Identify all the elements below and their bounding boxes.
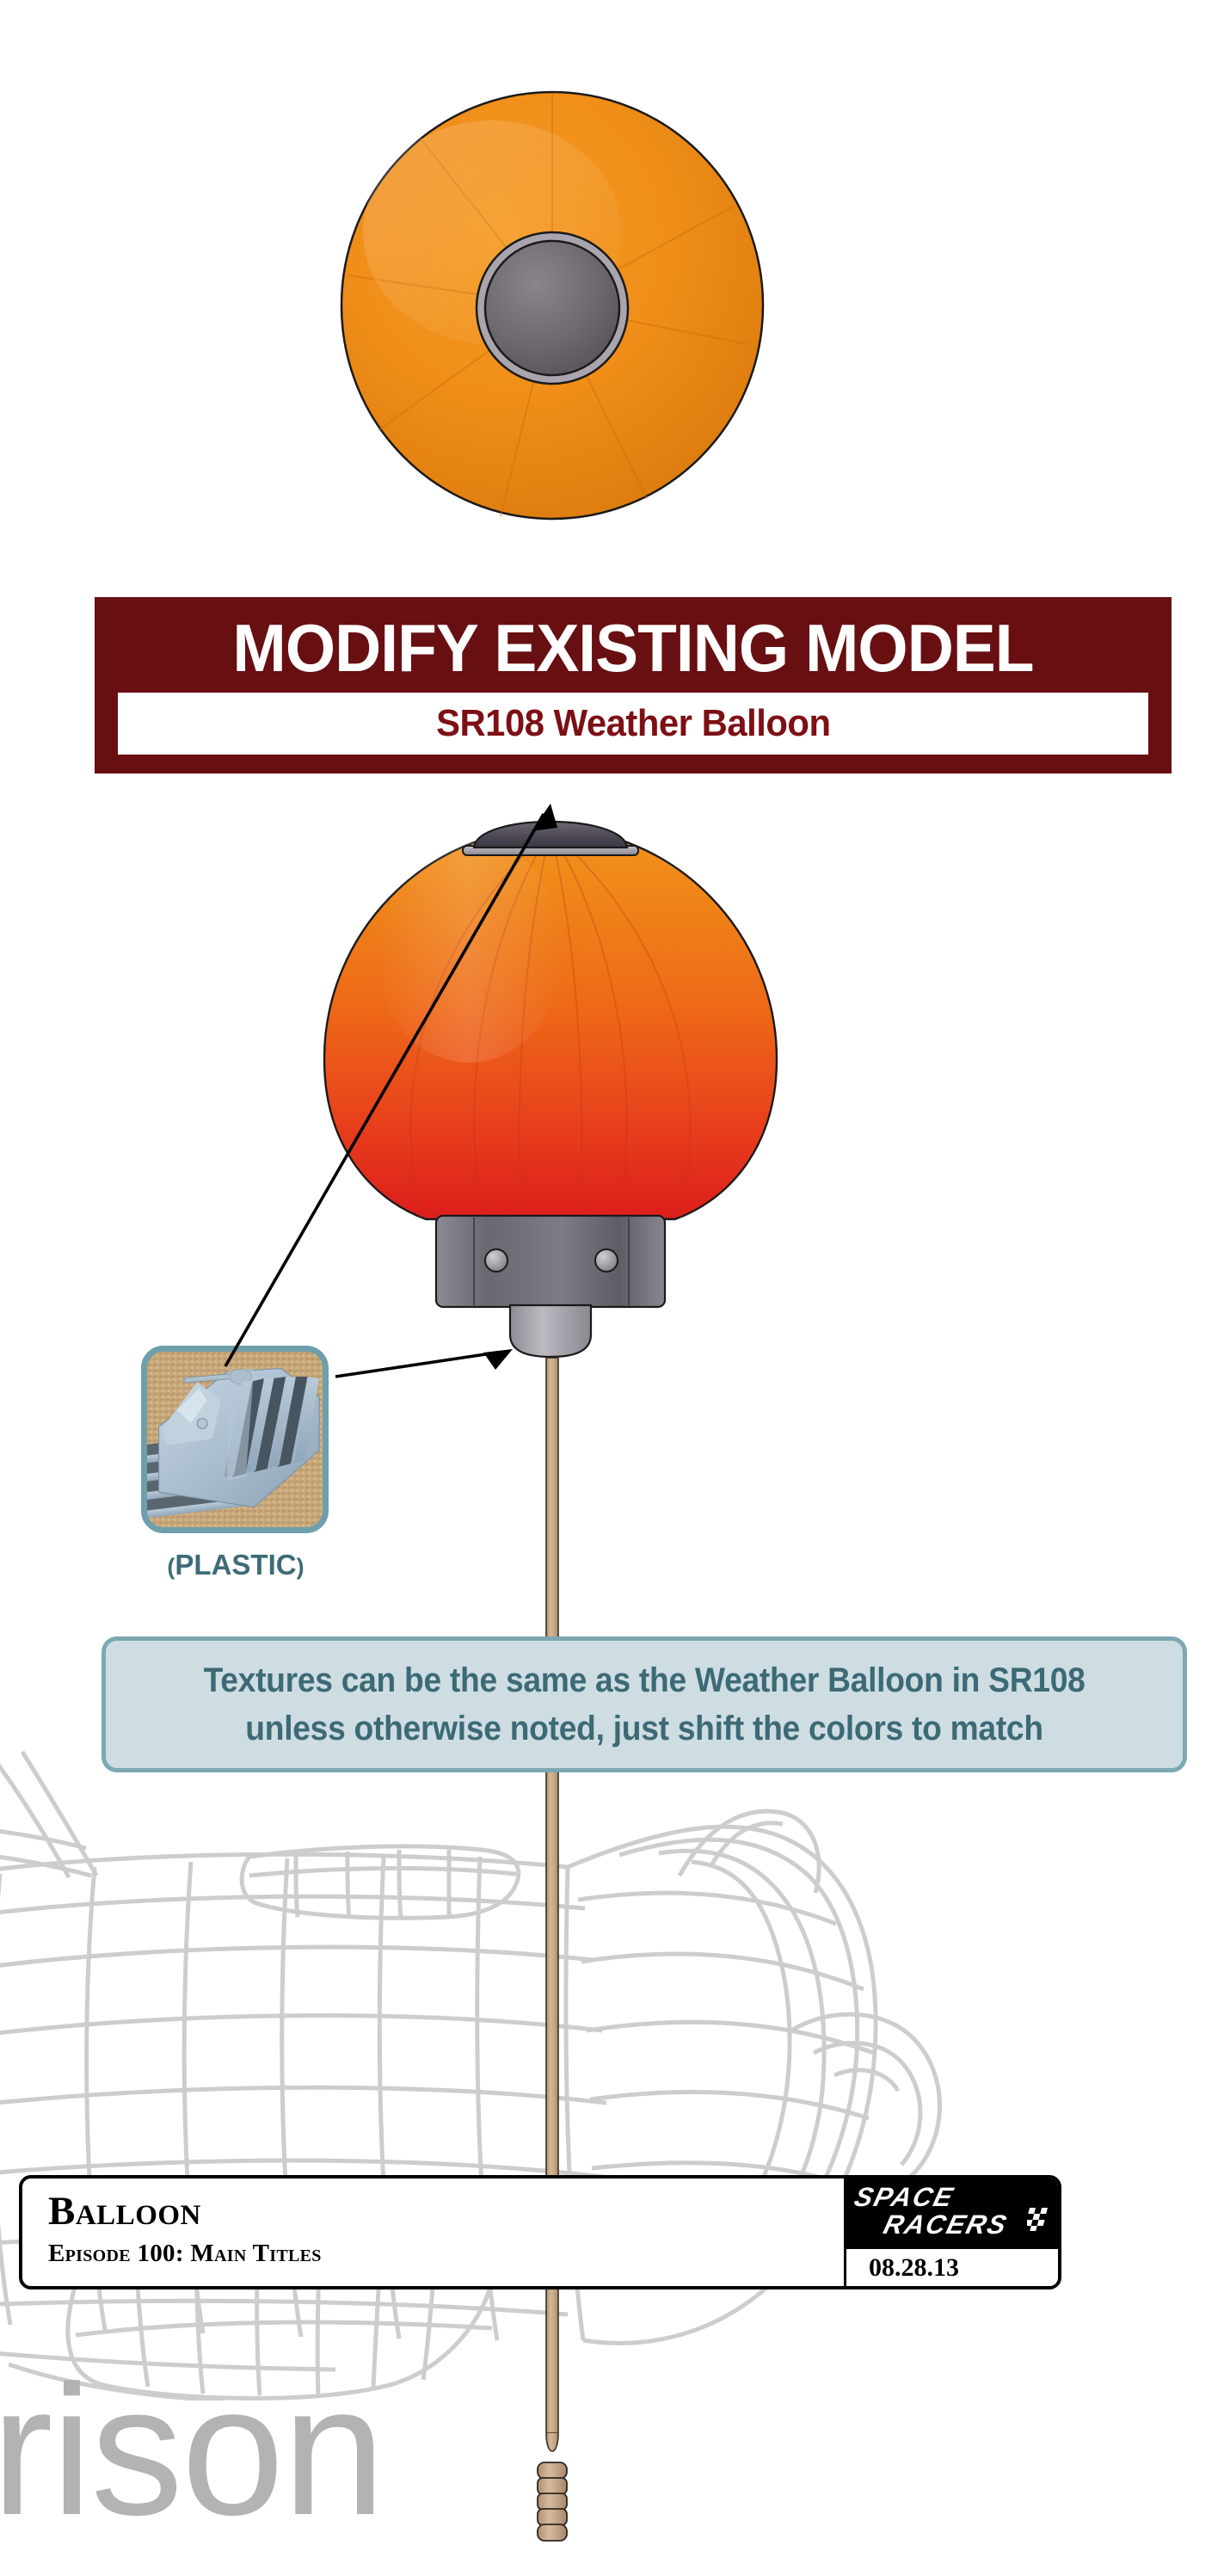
texture-note-line-1: Textures can be the same as the Weather … xyxy=(204,1661,1086,1699)
texture-note-text: Textures can be the same as the Weather … xyxy=(204,1656,1086,1753)
balloon-side-view xyxy=(305,796,796,1398)
title-block-right: SPACE RACERS 08.28.13 xyxy=(844,2179,1058,2286)
texture-note-line-2: unless otherwise noted, just shift the c… xyxy=(245,1710,1043,1747)
space-racers-logo: SPACE RACERS xyxy=(846,2179,1058,2249)
title-block-left: Balloon Episode 100: Main Titles xyxy=(22,2179,844,2286)
plastic-label-close-paren: ) xyxy=(297,1554,304,1580)
balloon-plan-view xyxy=(337,86,767,525)
modify-existing-model-banner: MODIFY EXISTING MODEL SR108 Weather Ball… xyxy=(95,597,1172,773)
title-block-title: Balloon xyxy=(48,2189,844,2234)
rope-coil-bundle xyxy=(526,2459,578,2562)
plastic-callout-label: (PLASTIC) xyxy=(141,1549,330,1581)
balloon-tether-rope xyxy=(541,1358,563,2519)
texture-note-box: Textures can be the same as the Weather … xyxy=(101,1636,1187,1772)
plastic-reference-thumbnail[interactable] xyxy=(141,1346,329,1533)
title-block-date: 08.28.13 xyxy=(846,2249,1058,2286)
plastic-reference-photo xyxy=(147,1352,323,1527)
title-block: Balloon Episode 100: Main Titles SPACE R… xyxy=(19,2175,1061,2289)
checkered-flag-icon xyxy=(1027,2204,1056,2234)
banner-title: MODIFY EXISTING MODEL xyxy=(117,598,1149,684)
title-block-subtitle: Episode 100: Main Titles xyxy=(48,2239,844,2268)
banner-subtitle-plate: SR108 Weather Balloon xyxy=(118,693,1148,755)
logo-line-racers: RACERS xyxy=(881,2209,1012,2240)
plastic-label-text: PLASTIC xyxy=(175,1549,296,1581)
logo-line-space: SPACE xyxy=(852,2182,957,2213)
banner-subtitle: SR108 Weather Balloon xyxy=(436,703,830,744)
wireframe-background-model xyxy=(0,1747,1049,2400)
